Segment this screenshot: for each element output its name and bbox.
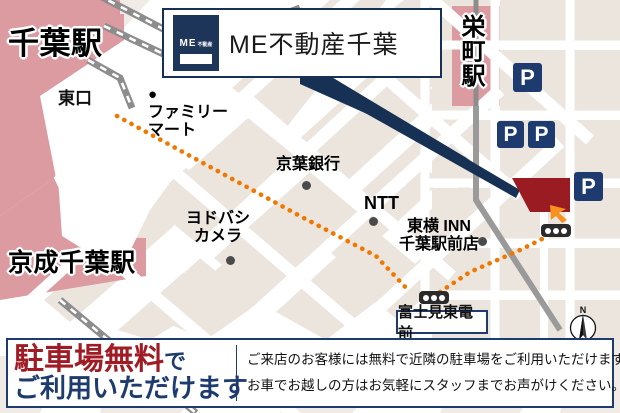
- svg-text:N: N: [580, 305, 587, 315]
- station-label-keisei: 京成千葉駅: [8, 243, 136, 279]
- poi-familymart: ●ファミリーマート: [148, 86, 268, 140]
- entrance-arrow-icon: [548, 203, 570, 225]
- parking-1[interactable]: P: [513, 63, 542, 92]
- banner-note-line2: お車でお越しの方はお気軽にスタッフまでお声がけください。: [247, 373, 620, 399]
- parking-banner: 駐車場無料で ご利用いただけます ご来店のお客様には無料で近隣の駐車場をご利用い…: [6, 338, 614, 408]
- poi-yodobashi: ヨドバシカメラ: [186, 210, 250, 246]
- banner-headline-line2: ご利用いただけます: [14, 375, 236, 402]
- exit-label-east: 東口: [58, 90, 92, 107]
- access-map: 千葉駅 京成千葉駅 栄町駅 東口 ●ファミリーマート 京葉銀行 ヨドバシカメラ …: [0, 0, 620, 413]
- poi-dot-keiyo: [302, 181, 311, 190]
- banner-headline-tail: で: [164, 349, 186, 374]
- banner-headline: 駐車場無料で ご利用いただけます: [8, 344, 236, 403]
- poi-dot-ntt: [369, 217, 378, 226]
- poi-keiyo-bank: 京葉銀行: [276, 156, 340, 174]
- poi-toyoko-inn: 東横 INN千葉駅前店: [381, 218, 497, 254]
- poi-dot-toyoko: [478, 237, 487, 246]
- parking-3[interactable]: P: [528, 121, 555, 148]
- logo-text: ME不動産千葉: [229, 25, 399, 61]
- logo-mark-bar: [180, 54, 212, 64]
- parking-2[interactable]: P: [497, 121, 524, 148]
- parking-4[interactable]: P: [574, 172, 603, 201]
- banner-headline-red: 駐車場無料: [14, 343, 164, 376]
- banner-note: ご来店のお客様には無料で近隣の駐車場をご利用いただけます。 お車でお越しの方はお…: [236, 345, 620, 401]
- banner-headline-line1: 駐車場無料で: [14, 344, 236, 376]
- station-label-sakaecho: 栄町駅: [458, 14, 482, 88]
- intersection-label: 富士見東電前: [396, 310, 488, 334]
- station-label-chiba: 千葉駅: [8, 18, 103, 63]
- banner-note-line1: ご来店のお客様には無料で近隣の駐車場をご利用いただけます。: [247, 347, 620, 373]
- company-logo-box: ME 不動産 ME不動産千葉: [162, 8, 442, 78]
- traffic-signal-2: [541, 224, 571, 237]
- poi-dot-yodobashi: [226, 256, 235, 265]
- logo-mark-main: ME: [179, 38, 196, 49]
- logo-mark-sub: 不動産: [197, 41, 212, 48]
- logo-mark: ME 不動産: [173, 15, 219, 71]
- poi-ntt: NTT: [364, 193, 399, 213]
